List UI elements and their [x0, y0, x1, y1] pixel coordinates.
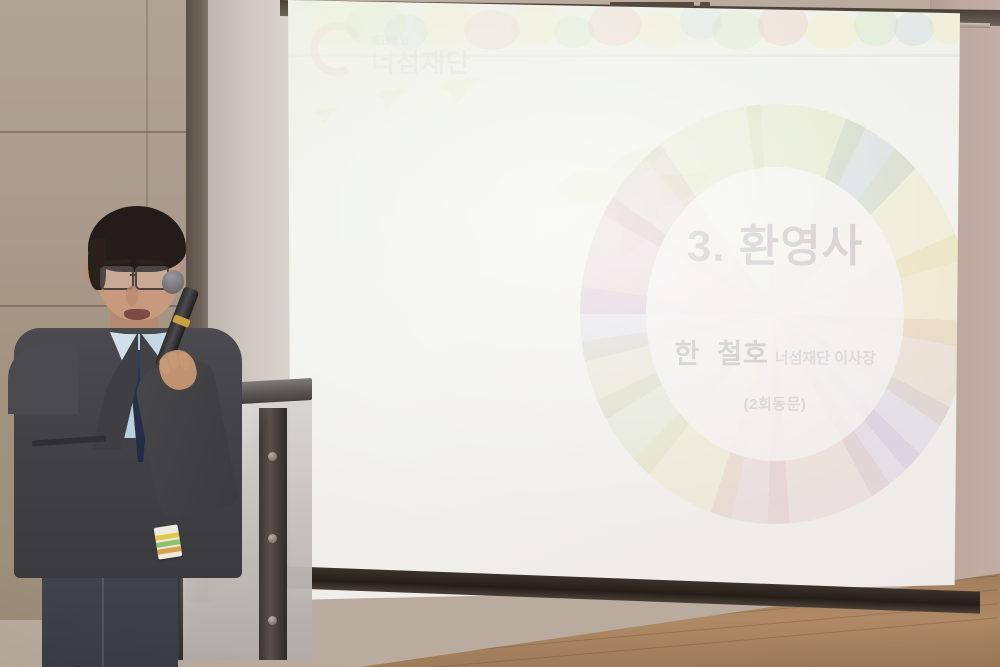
- bird-small-1-icon: [314, 106, 339, 124]
- mouth: [124, 309, 150, 320]
- logo-title: 너섬재단: [371, 50, 471, 76]
- speaker-given-name: 철호: [717, 332, 769, 371]
- name-badge: [154, 524, 183, 559]
- banner-blob-yellow-3: [510, 2, 560, 46]
- slide-surface: 재단법인 너섬재단 3. 환영사 한 철호 너섬재: [288, 0, 960, 600]
- left-wall-seam: [0, 131, 196, 133]
- bird-small-2-icon: [374, 86, 409, 112]
- foundation-logo: 재단법인 너섬재단: [310, 22, 471, 76]
- nose: [126, 286, 138, 306]
- trouser-crease: [102, 578, 104, 667]
- logo-text-block: 재단법인 너섬재단: [371, 37, 471, 76]
- slide-speaker-line: 한 철호 너섬재단 이사장: [674, 332, 875, 371]
- slide-title: 3. 환영사: [687, 210, 863, 274]
- banner-blob-yellow-5: [804, 14, 860, 50]
- banner-blob-red-2: [588, 4, 642, 46]
- speaker-role: 너섬재단 이사장: [775, 347, 876, 368]
- badge-stripe: [157, 546, 181, 555]
- trousers: [42, 568, 178, 667]
- banner-blob-yellow-4: [636, 12, 684, 50]
- speaker-person: [14, 196, 244, 667]
- speaker-surname: 한: [674, 332, 700, 371]
- left-shoulder: [8, 344, 78, 414]
- finger: [177, 351, 190, 370]
- banner-blob-green-3: [712, 10, 764, 50]
- ring-logo-mark-icon: [303, 15, 371, 83]
- slide-text-block: 3. 환영사 한 철호 너섬재단 이사장 (2회동문): [580, 104, 960, 524]
- bird-small-3-icon: [438, 74, 482, 107]
- speaker-note: (2회동문): [744, 393, 807, 414]
- presentation-photo: 재단법인 너섬재단 3. 환영사 한 철호 너섬재: [0, 0, 1000, 667]
- glasses-bridge: [130, 274, 137, 276]
- logo-subtitle: 재단법인: [371, 37, 471, 47]
- projection-screen: 재단법인 너섬재단 3. 환영사 한 철호 너섬재: [288, 0, 960, 600]
